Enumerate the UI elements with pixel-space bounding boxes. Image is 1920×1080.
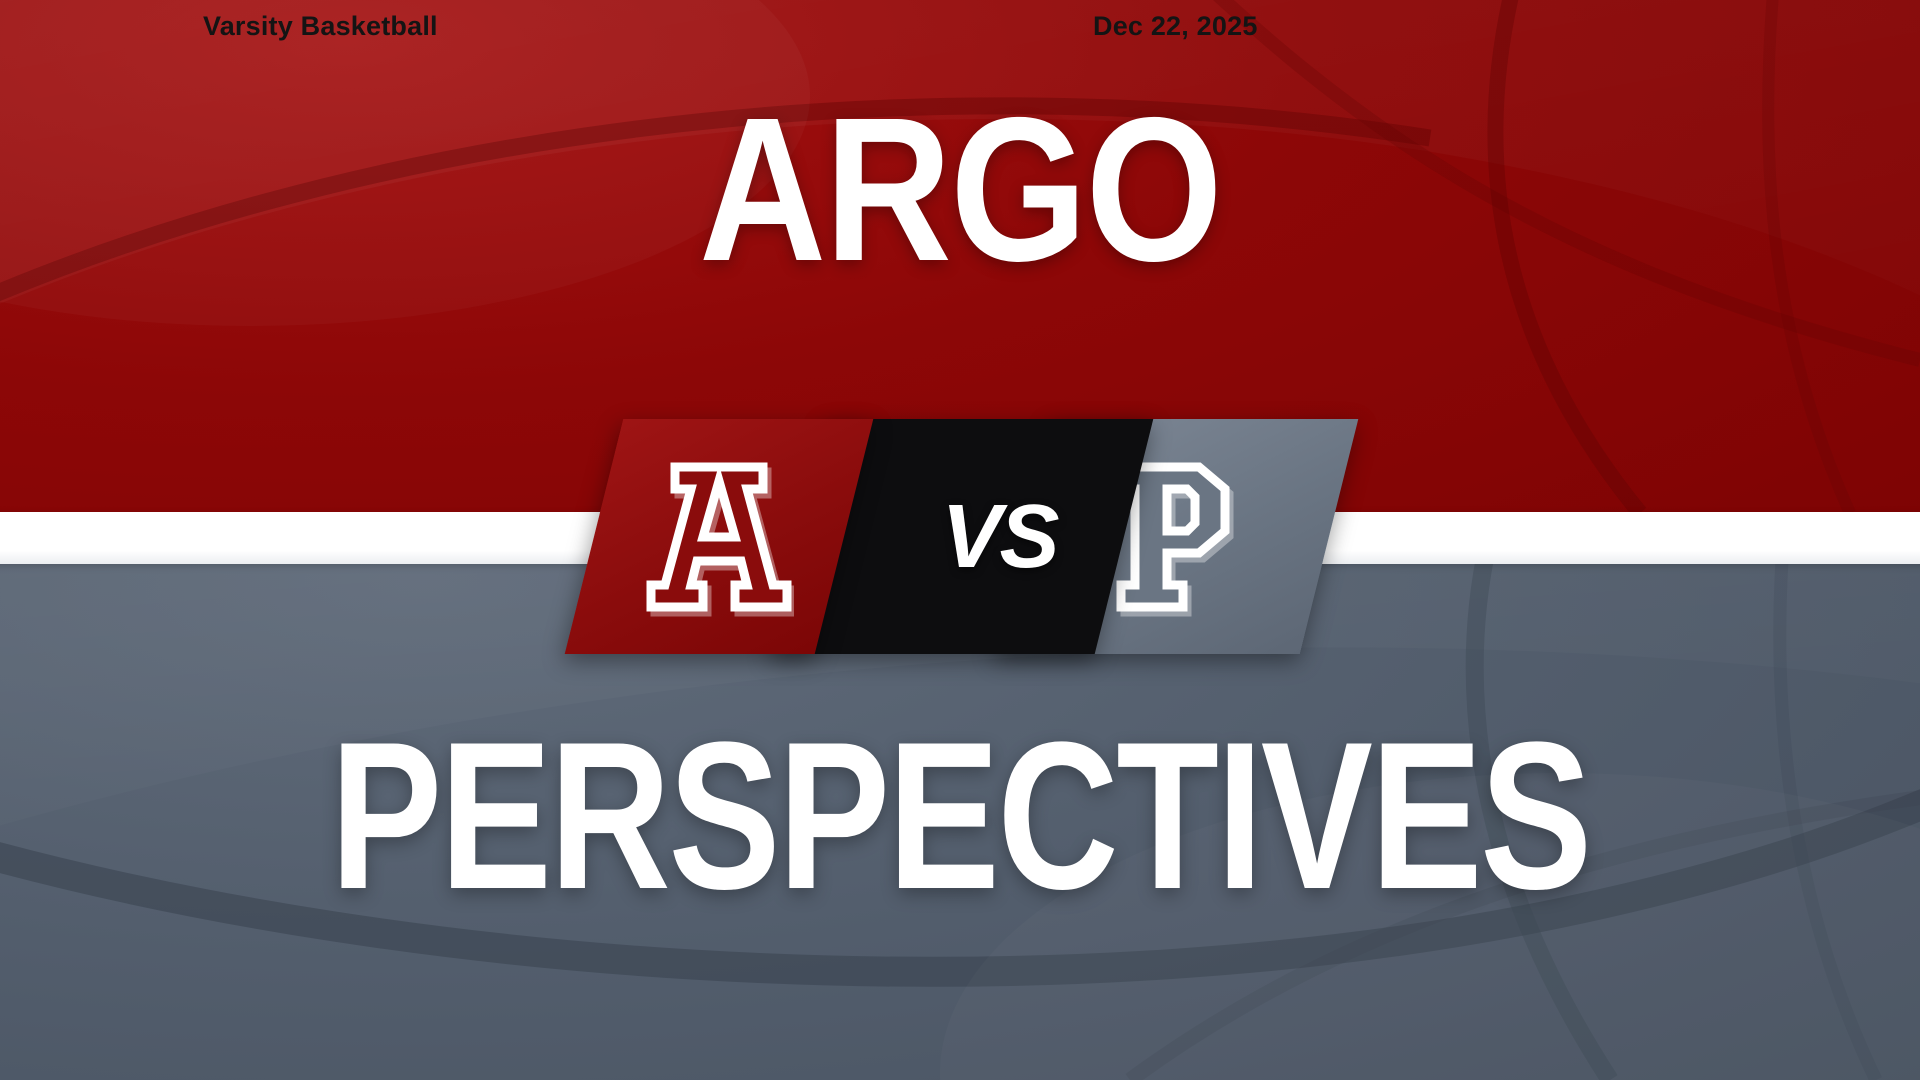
page-title-bottom: PERSPECTIVES: [192, 715, 1728, 917]
sport-label: Varsity Basketball: [203, 0, 438, 52]
home-team-panel: [565, 419, 874, 654]
versus-label: VS: [941, 492, 1057, 582]
matchup-emblem: VS: [594, 419, 1328, 654]
broadcast-graphic: ARGO VS: [0, 0, 1920, 1080]
date-label: Dec 22, 2025: [1093, 0, 1258, 52]
home-team-panel-inner: [594, 419, 844, 654]
page-title-top: ARGO: [134, 96, 1785, 285]
home-team-letter-a-icon: [644, 453, 794, 621]
